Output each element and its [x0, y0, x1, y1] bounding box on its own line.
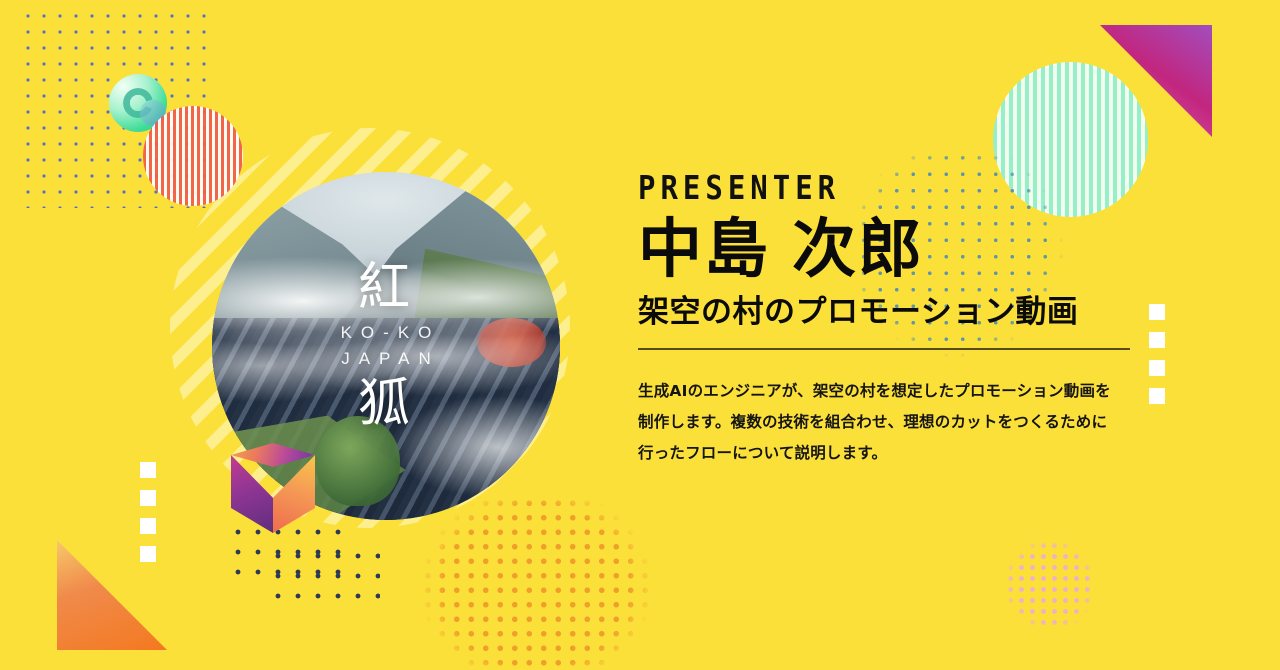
- overlay-kanji-top: 紅: [358, 262, 410, 314]
- overlay-latin-block: KO-KO JAPAN: [332, 320, 441, 373]
- white-square: [140, 462, 156, 478]
- dark-dot-grid-lower: [268, 546, 380, 612]
- overlay-kanji-bottom: 狐: [358, 378, 410, 430]
- blue-dot-grid-top-left: [20, 8, 210, 208]
- overlay-latin-line-1: KO-KO: [332, 320, 441, 346]
- magenta-gradient-triangle: [1100, 25, 1212, 137]
- orange-gradient-triangle: [57, 540, 167, 650]
- slide-canvas: 紅 KO-KO JAPAN 狐 PRESENTER 中島次郎 架空の村のプロモー…: [0, 0, 1280, 670]
- dark-dot-grid-upper: [228, 522, 348, 588]
- white-square-column-left: [140, 462, 156, 562]
- description-line-1: 生成AIのエンジニアが、架空の村を想定したプロモーション動画を: [638, 376, 1146, 407]
- green-gradient-circle: [109, 74, 167, 132]
- white-square: [140, 518, 156, 534]
- green-c-shape-icon: [123, 88, 153, 118]
- presentation-title: 架空の村のプロモーション動画: [638, 293, 1158, 332]
- presentation-description: 生成AIのエンジニアが、架空の村を想定したプロモーション動画を 制作します。複数…: [638, 376, 1146, 469]
- presenter-photo-circle: 紅 KO-KO JAPAN 狐: [212, 172, 560, 520]
- orange-dot-circle: [406, 496, 696, 670]
- divider-line: [638, 348, 1130, 350]
- presenter-text-block: PRESENTER 中島次郎 架空の村のプロモーション動画 生成AIのエンジニア…: [638, 172, 1158, 469]
- overlay-latin-line-2: JAPAN: [332, 346, 440, 372]
- description-line-3: 行ったフローについて説明します。: [638, 438, 1146, 469]
- eyebrow-label: PRESENTER: [638, 172, 1158, 204]
- presenter-name: 中島次郎: [638, 215, 1158, 285]
- photo-title-overlay: 紅 KO-KO JAPAN 狐: [212, 172, 560, 520]
- description-line-2: 制作します。複数の技術を組合わせ、理想のカットをつくるために: [638, 407, 1146, 438]
- pink-dot-circle: [1005, 540, 1095, 630]
- presenter-name-given: 次郎: [792, 213, 924, 287]
- white-square: [140, 546, 156, 562]
- white-square: [140, 490, 156, 506]
- teal-blob-accent: [140, 100, 166, 126]
- presenter-name-family: 中島: [638, 213, 770, 287]
